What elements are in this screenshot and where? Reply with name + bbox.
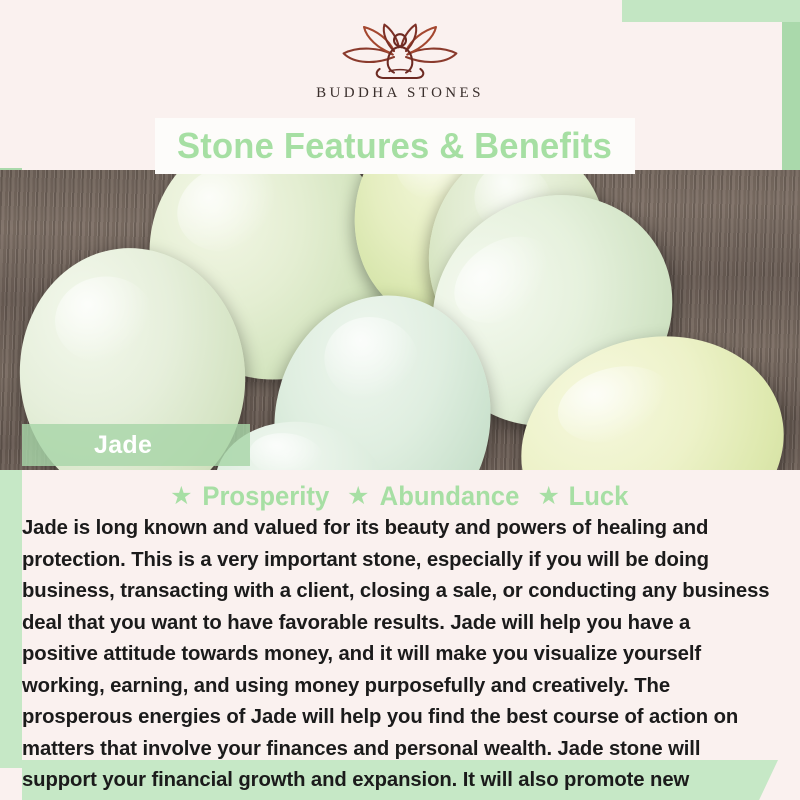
star-icon: ★ [170, 484, 192, 509]
page-title: Stone Features & Benefits [177, 125, 612, 167]
benefits-row: ★ Prosperity ★ Abundance ★ Luck [0, 478, 800, 514]
benefit-item: ★ Abundance [347, 481, 523, 512]
star-icon: ★ [347, 484, 369, 509]
infographic-card: BUDDHA STONES Stone Features & Benefits … [0, 0, 800, 800]
star-icon: ★ [537, 484, 559, 509]
brand-name: BUDDHA STONES [316, 85, 484, 102]
benefit-label: Abundance [380, 481, 520, 512]
stone-description: Jade is long known and valued for its be… [22, 512, 771, 800]
lotus-meditation-icon [334, 22, 466, 80]
benefit-label: Prosperity [203, 481, 330, 512]
benefit-label: Luck [568, 481, 628, 512]
benefit-item: ★ Prosperity [170, 481, 333, 512]
brand-header: BUDDHA STONES [0, 0, 800, 118]
benefit-item: ★ Luck [537, 481, 629, 512]
stone-name: Jade [94, 431, 152, 460]
title-banner: Stone Features & Benefits [155, 118, 635, 174]
stone-name-band: Jade [22, 424, 250, 466]
